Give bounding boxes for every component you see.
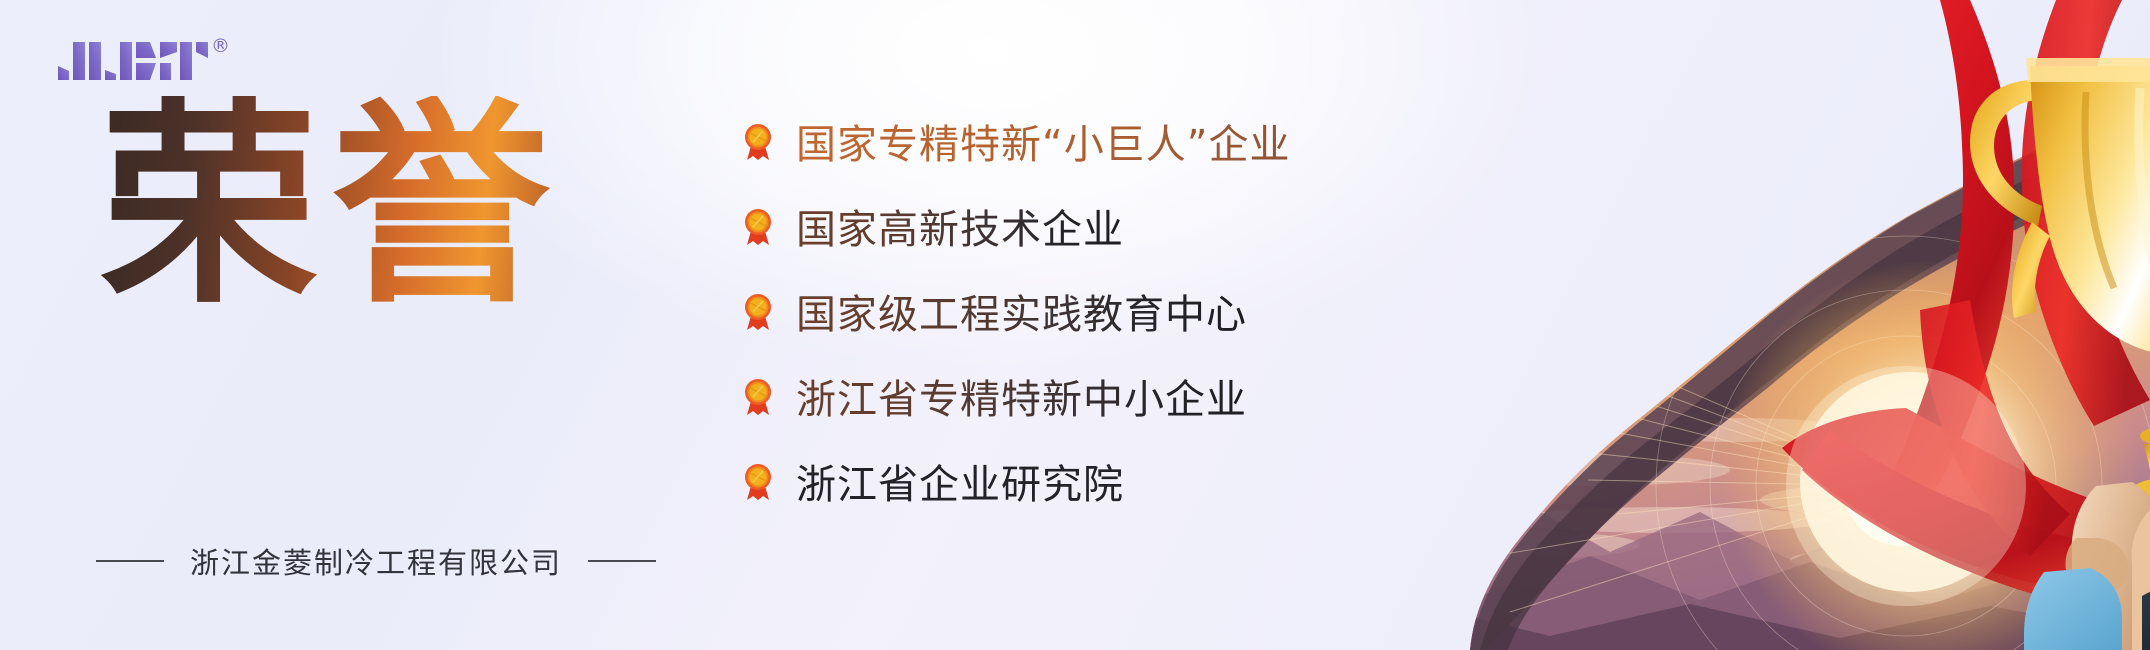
award-rosette-icon xyxy=(742,292,774,330)
rule-left-divider xyxy=(96,560,164,562)
trophy-scene-icon xyxy=(1270,0,2150,650)
list-item: 国家级工程实践教育中心 xyxy=(742,282,1290,340)
company-name-text: 浙江金菱制冷工程有限公司 xyxy=(190,540,562,582)
award-rosette-icon xyxy=(742,377,774,415)
honors-list: 国家专精特新“小巨人”企业 国家高新技术企业 xyxy=(742,112,1290,510)
page-title: 荣誉 xyxy=(100,96,660,318)
rule-right-divider xyxy=(588,560,656,562)
award-rosette-icon xyxy=(742,462,774,500)
registered-trademark-icon: ® xyxy=(211,37,230,56)
list-item: 浙江省专精特新中小企业 xyxy=(742,367,1290,425)
list-item: 浙江省企业研究院 xyxy=(742,452,1290,510)
trophy-artwork xyxy=(1270,0,2150,650)
honor-label: 国家专精特新“小巨人”企业 xyxy=(796,112,1290,170)
list-item: 国家专精特新“小巨人”企业 xyxy=(742,112,1290,170)
honor-label: 国家级工程实践教育中心 xyxy=(796,282,1247,340)
award-rosette-icon xyxy=(742,122,774,160)
red-ribbon-icon xyxy=(1870,0,2014,520)
hero-title-text: 荣誉 xyxy=(100,96,660,318)
jlet-logo-mark-icon xyxy=(58,30,208,80)
trophy-icon xyxy=(1970,58,2150,570)
honor-label: 浙江省专精特新中小企业 xyxy=(796,367,1247,425)
hands-holding-icon xyxy=(2024,482,2150,650)
honor-banner: ® 荣誉 浙江金菱制冷工程有限公司 国家专精特新“小巨人”企业 xyxy=(0,0,2150,650)
award-rosette-icon xyxy=(742,207,774,245)
honor-label: 浙江省企业研究院 xyxy=(796,452,1124,510)
honor-label: 国家高新技术企业 xyxy=(796,197,1124,255)
company-subtitle: 浙江金菱制冷工程有限公司 xyxy=(96,540,656,582)
list-item: 国家高新技术企业 xyxy=(742,197,1290,255)
